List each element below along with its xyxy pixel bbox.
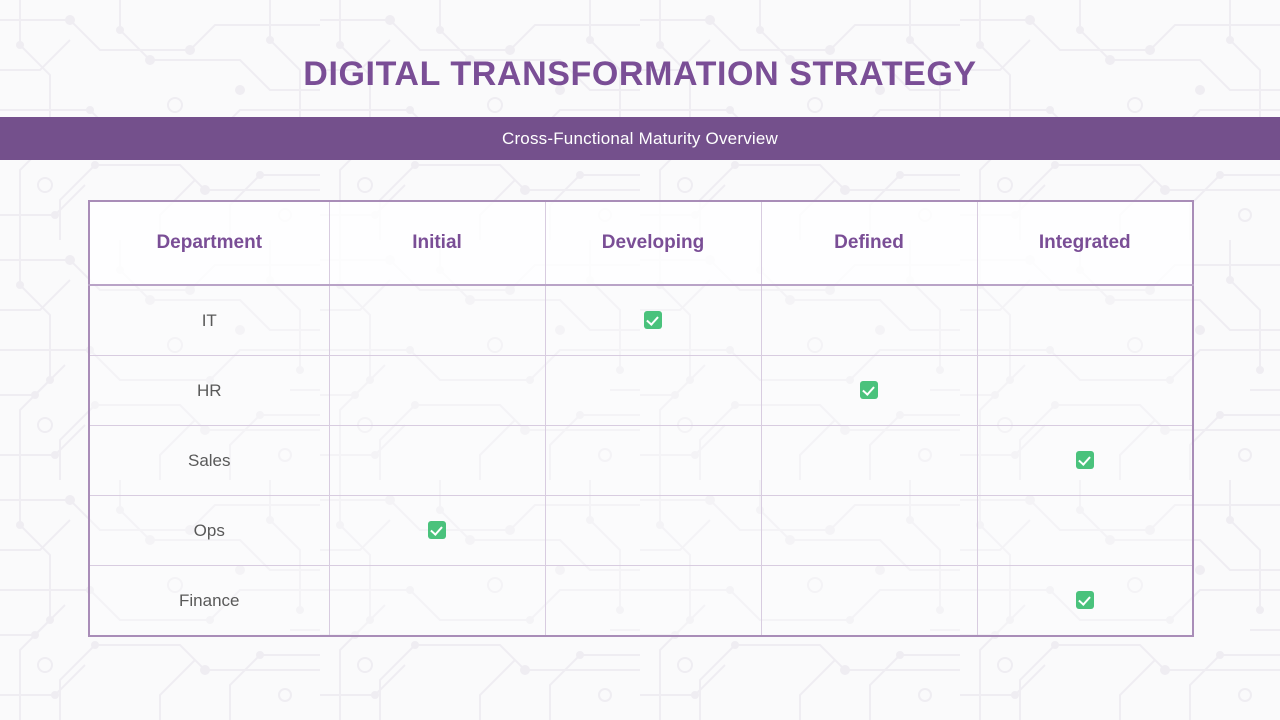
maturity-cell-defined[interactable]: [761, 356, 977, 426]
maturity-matrix-container: Department Initial Developing Defined In…: [88, 200, 1192, 637]
maturity-cell-defined[interactable]: [761, 496, 977, 566]
department-label: HR: [89, 356, 329, 426]
check-square-icon: [644, 311, 662, 329]
maturity-cell-developing[interactable]: [545, 426, 761, 496]
maturity-cell-initial[interactable]: [329, 356, 545, 426]
table-header-row: Department Initial Developing Defined In…: [89, 201, 1193, 285]
subtitle-banner: Cross-Functional Maturity Overview: [0, 117, 1280, 160]
column-header-integrated: Integrated: [977, 201, 1193, 285]
department-label: Ops: [89, 496, 329, 566]
maturity-matrix-table: Department Initial Developing Defined In…: [88, 200, 1194, 637]
table-row: HR: [89, 356, 1193, 426]
department-label: Finance: [89, 566, 329, 637]
table-row: Sales: [89, 426, 1193, 496]
maturity-cell-initial[interactable]: [329, 426, 545, 496]
table-row: IT: [89, 285, 1193, 356]
check-square-icon: [860, 381, 878, 399]
check-square-icon: [1076, 591, 1094, 609]
maturity-cell-initial[interactable]: [329, 566, 545, 637]
page-title: DIGITAL TRANSFORMATION STRATEGY: [0, 52, 1280, 96]
column-header-defined: Defined: [761, 201, 977, 285]
subtitle-text: Cross-Functional Maturity Overview: [502, 129, 778, 149]
maturity-cell-defined[interactable]: [761, 426, 977, 496]
table-row: Ops: [89, 496, 1193, 566]
maturity-cell-developing[interactable]: [545, 496, 761, 566]
maturity-cell-developing[interactable]: [545, 566, 761, 637]
maturity-cell-integrated[interactable]: [977, 356, 1193, 426]
column-header-developing: Developing: [545, 201, 761, 285]
maturity-cell-developing[interactable]: [545, 356, 761, 426]
table-header: Department Initial Developing Defined In…: [89, 201, 1193, 285]
department-label: IT: [89, 285, 329, 356]
maturity-cell-developing[interactable]: [545, 285, 761, 356]
check-square-icon: [428, 521, 446, 539]
column-header-initial: Initial: [329, 201, 545, 285]
maturity-cell-initial[interactable]: [329, 496, 545, 566]
check-square-icon: [1076, 451, 1094, 469]
maturity-cell-integrated[interactable]: [977, 426, 1193, 496]
table-body: ITHRSalesOpsFinance: [89, 285, 1193, 636]
maturity-cell-integrated[interactable]: [977, 566, 1193, 637]
department-label: Sales: [89, 426, 329, 496]
column-header-department: Department: [89, 201, 329, 285]
maturity-cell-defined[interactable]: [761, 566, 977, 637]
maturity-cell-initial[interactable]: [329, 285, 545, 356]
maturity-cell-integrated[interactable]: [977, 285, 1193, 356]
table-row: Finance: [89, 566, 1193, 637]
maturity-cell-integrated[interactable]: [977, 496, 1193, 566]
maturity-cell-defined[interactable]: [761, 285, 977, 356]
